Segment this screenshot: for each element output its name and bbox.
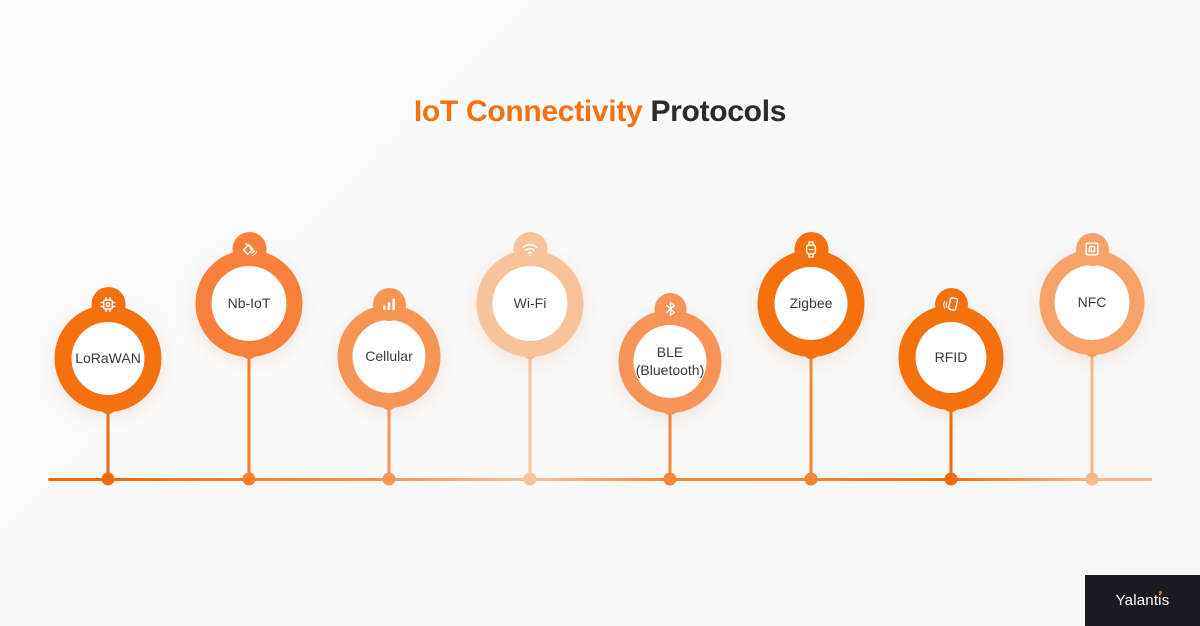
protocol-node-label-line1: LoRaWAN (75, 350, 141, 368)
timeline-axis-segment (811, 478, 951, 481)
timeline-axis-segment (670, 478, 811, 481)
wifi-icon-badge[interactable] (513, 232, 547, 266)
signal-bars-icon (380, 295, 398, 313)
protocol-node-label-line1: Zigbee (790, 295, 833, 313)
protocol-node[interactable]: RFID (899, 305, 1004, 410)
bluetooth-icon-badge[interactable] (654, 293, 686, 325)
timeline-axis-segment (48, 478, 108, 481)
protocol-node[interactable]: BLE(Bluetooth) (619, 310, 722, 413)
protocol-node-label: Cellular (353, 320, 426, 393)
node-stem (107, 406, 110, 479)
timeline-axis-segment (951, 478, 1092, 481)
node-stem (810, 351, 813, 479)
protocol-node-ring: BLE(Bluetooth) (619, 310, 722, 413)
protocol-node-label-line1: Wi-Fi (514, 295, 547, 313)
protocol-node-label: LoRaWAN (72, 322, 145, 395)
node-stem (248, 351, 251, 479)
node-stem (1091, 349, 1094, 479)
yalantis-logo-text: Yalantis (1116, 592, 1170, 609)
protocol-node[interactable]: Wi-Fi (477, 250, 584, 357)
wifi-icon (521, 240, 540, 259)
rfid-tag-icon (942, 295, 960, 313)
node-stem (950, 404, 953, 479)
timeline-axis-layer (0, 0, 1200, 626)
chip-icon-badge[interactable] (91, 287, 125, 321)
node-stem (529, 351, 532, 479)
timeline-axis-segment (108, 478, 249, 481)
protocol-node-label: Zigbee (775, 267, 848, 340)
timeline-axis-segment (249, 478, 389, 481)
protocol-node[interactable]: NFC (1040, 250, 1145, 355)
protocol-node[interactable]: Nb-IoT (196, 250, 303, 357)
bluetooth-icon (661, 300, 679, 318)
protocol-node-label-line1: BLE (636, 344, 704, 362)
yalantis-logo-label: Yalantis (1116, 592, 1170, 609)
protocol-node-label-line1: Cellular (365, 348, 412, 366)
smartwatch-icon-badge[interactable] (794, 232, 828, 266)
smartwatch-icon (802, 240, 821, 259)
protocol-node[interactable]: Zigbee (758, 250, 865, 357)
satellite-icon (240, 240, 259, 259)
node-stem (669, 407, 672, 479)
protocol-node-label: Nb-IoT (212, 266, 287, 341)
protocol-node-label-line1: Nb-IoT (228, 295, 271, 313)
protocol-node[interactable]: LoRaWAN (55, 305, 162, 412)
timeline-axis-segment (1092, 478, 1152, 481)
protocol-node-label-line1: RFID (935, 349, 968, 367)
protocol-node-label: Wi-Fi (493, 266, 568, 341)
protocol-node[interactable]: Cellular (338, 305, 441, 408)
chip-icon (99, 295, 118, 314)
protocol-node-label: NFC (1055, 265, 1130, 340)
yalantis-logo: Yalantis (1085, 575, 1200, 626)
node-stem (388, 402, 391, 479)
signal-bars-icon-badge[interactable] (373, 288, 406, 321)
protocol-node-label-line1: NFC (1078, 294, 1107, 312)
timeline-axis-segment (530, 478, 670, 481)
protocol-node-label: BLE(Bluetooth) (634, 325, 707, 398)
nfc-square-icon-badge[interactable] (1076, 233, 1109, 266)
protocol-node-label-line2: (Bluetooth) (636, 362, 704, 380)
nfc-square-icon (1083, 240, 1101, 258)
protocol-node-label: RFID (916, 322, 987, 393)
timeline-axis-segment (389, 478, 530, 481)
infographic-canvas: IoT Connectivity Protocols LoRaWANNb-IoT… (0, 0, 1200, 626)
satellite-icon-badge[interactable] (232, 232, 266, 266)
rfid-tag-icon-badge[interactable] (935, 288, 968, 321)
